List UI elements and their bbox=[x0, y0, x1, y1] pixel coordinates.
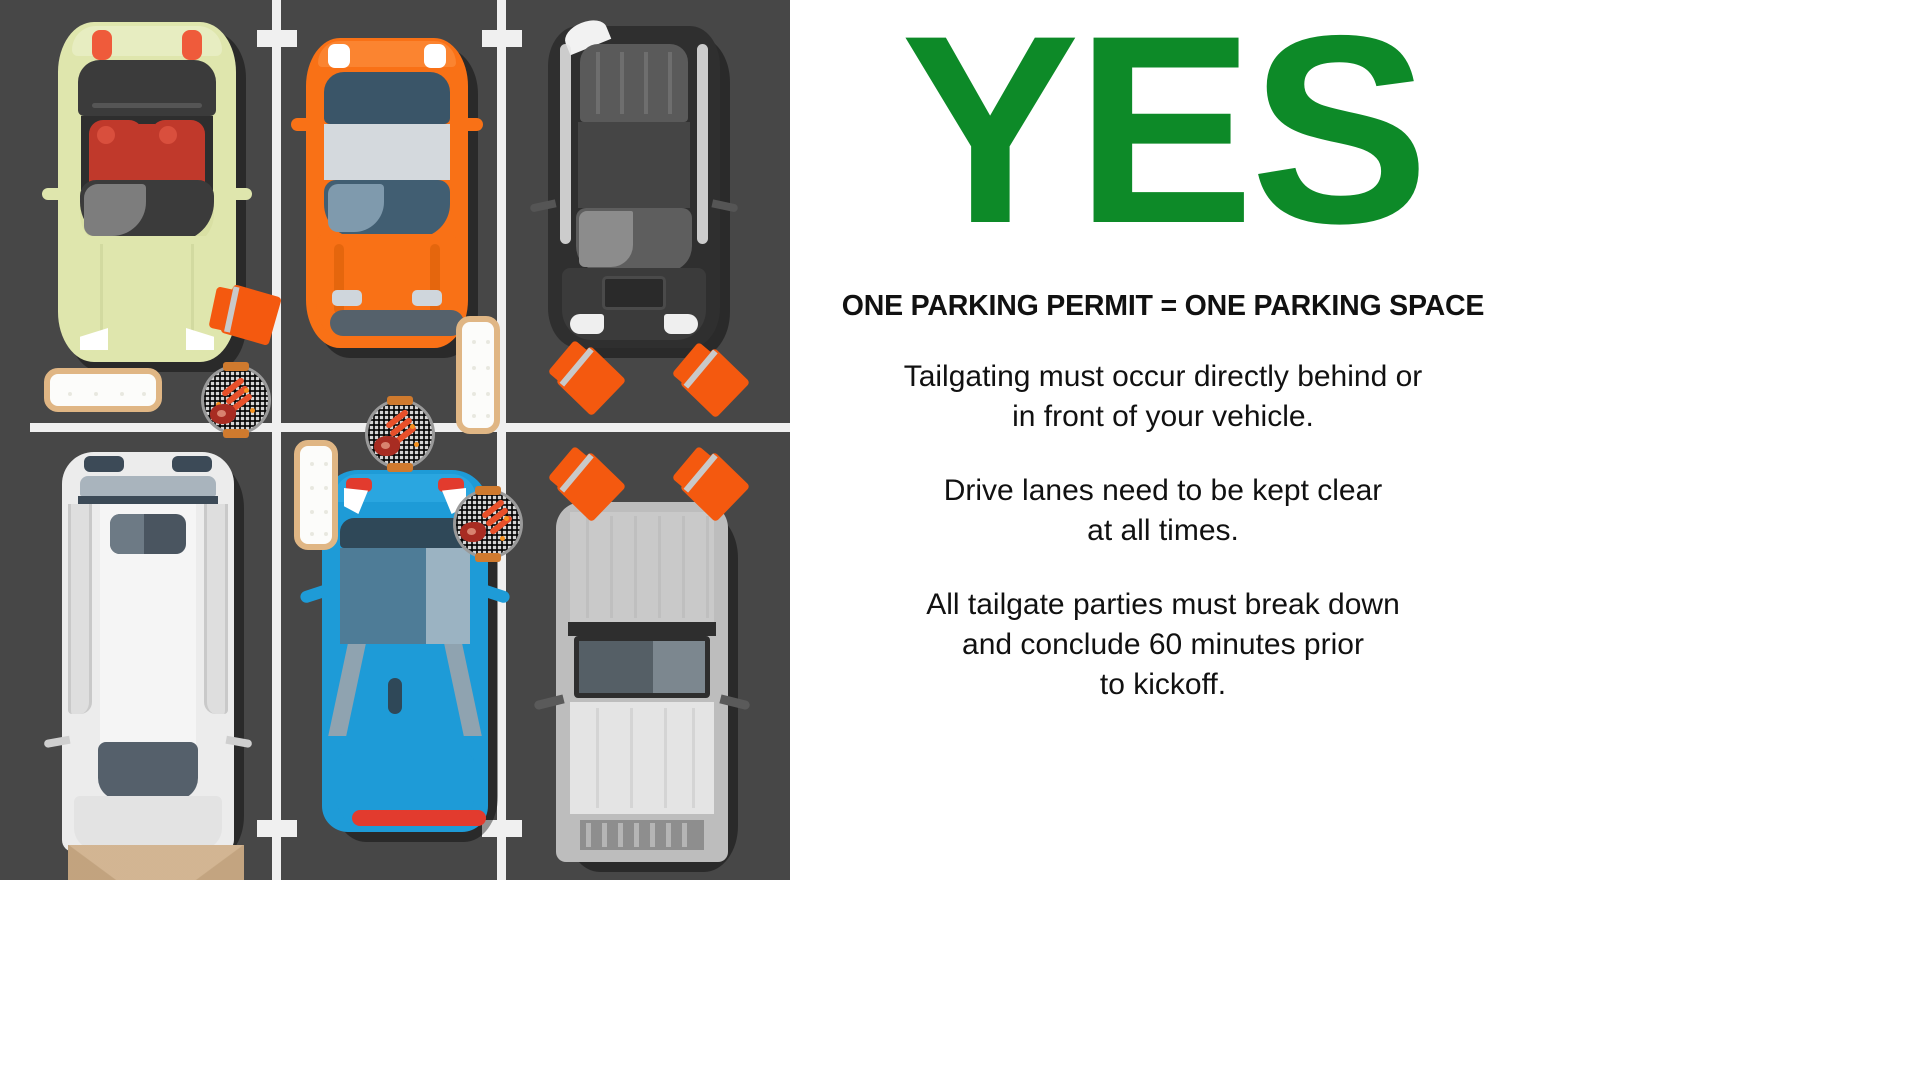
rear-window bbox=[340, 518, 470, 548]
front-end bbox=[74, 796, 222, 850]
canopy-label: 8’ x 8’ CANOPY OKAY bbox=[68, 845, 244, 880]
taillight-right bbox=[424, 44, 446, 68]
windshield bbox=[576, 208, 692, 272]
folding-chair bbox=[680, 348, 751, 419]
grille bbox=[580, 820, 704, 850]
bbq-grill bbox=[368, 402, 432, 466]
vehicle-silver-pickup-truck bbox=[556, 502, 728, 862]
verdict-heading: YES bbox=[901, 14, 1425, 244]
vehicle-dark-suv bbox=[548, 26, 720, 348]
folding-table bbox=[294, 440, 338, 550]
stall-cap-top-left bbox=[257, 30, 297, 47]
open-cabin bbox=[81, 116, 213, 190]
taillight-left bbox=[92, 30, 112, 60]
canopy-footprint: 8’ x 8’ CANOPY OKAY bbox=[68, 845, 244, 880]
folding-table bbox=[44, 368, 162, 412]
copy-panel: YES ONE PARKING PERMIT = ONE PARKING SPA… bbox=[790, 0, 1536, 880]
cab-seam bbox=[568, 622, 716, 636]
hood bbox=[570, 702, 714, 814]
headlight-left bbox=[570, 314, 604, 334]
stall-line-left-upper bbox=[272, 0, 281, 423]
windshield bbox=[98, 742, 198, 800]
roof-rail-left bbox=[560, 44, 571, 244]
rear-window bbox=[580, 44, 688, 122]
truck-bed bbox=[570, 512, 714, 622]
bbq-grill bbox=[456, 492, 520, 556]
stall-cap-top-right bbox=[482, 30, 522, 47]
taillight-right bbox=[172, 456, 212, 472]
windshield bbox=[80, 180, 214, 242]
headlight-right bbox=[664, 314, 698, 334]
bbq-grill bbox=[204, 368, 268, 432]
rear-window bbox=[324, 72, 450, 124]
taillight-right bbox=[182, 30, 202, 60]
rule-3-line-3: to kickoff. bbox=[926, 665, 1400, 705]
mirror-left bbox=[291, 118, 315, 131]
headlight-right bbox=[186, 328, 214, 350]
roof-seam bbox=[78, 496, 218, 504]
rule-paragraph-2: Drive lanes need to be kept clear at all… bbox=[944, 471, 1383, 551]
roof-rail-left bbox=[68, 504, 92, 714]
front-lip bbox=[352, 810, 486, 826]
taillight-left bbox=[328, 44, 350, 68]
rule-2-line-1: Drive lanes need to be kept clear bbox=[944, 471, 1383, 511]
mid-body bbox=[336, 644, 474, 754]
front-end bbox=[316, 234, 458, 344]
mirror-right bbox=[459, 118, 483, 131]
stall-cap-bottom-left bbox=[257, 820, 297, 837]
rear-hatch bbox=[80, 476, 216, 496]
roof bbox=[340, 548, 470, 644]
roof-rail-right bbox=[697, 44, 708, 244]
vehicle-white-suv bbox=[62, 452, 234, 852]
front-end bbox=[562, 268, 706, 340]
windshield bbox=[324, 180, 450, 238]
roof-rail-right bbox=[204, 504, 228, 714]
cab-window bbox=[574, 636, 710, 698]
headlight-left bbox=[332, 290, 362, 306]
headlight-right bbox=[412, 290, 442, 306]
roof bbox=[578, 122, 690, 208]
rule-paragraph-3: All tailgate parties must break down and… bbox=[926, 585, 1400, 705]
rule-2-line-2: at all times. bbox=[944, 511, 1383, 551]
infographic-root: 8’ x 8’ CANOPY OKAY YES ONE PARKING PERM… bbox=[0, 0, 1536, 880]
rule-3-line-1: All tailgate parties must break down bbox=[926, 585, 1400, 625]
rule-3-line-2: and conclude 60 minutes prior bbox=[926, 625, 1400, 665]
seat-left bbox=[89, 120, 143, 186]
mirror-left bbox=[42, 188, 68, 200]
front-end bbox=[70, 236, 224, 356]
page-title: ONE PARKING PERMIT = ONE PARKING SPACE bbox=[842, 290, 1484, 323]
taillight-left bbox=[84, 456, 124, 472]
seat-right bbox=[151, 120, 205, 186]
parking-lot-illustration: 8’ x 8’ CANOPY OKAY bbox=[0, 0, 790, 880]
front-bumper bbox=[330, 310, 464, 336]
rear-window bbox=[78, 60, 216, 116]
roof bbox=[324, 124, 450, 180]
grille bbox=[602, 276, 666, 310]
hood-scoop bbox=[388, 678, 402, 714]
vehicle-orange-sports-car bbox=[306, 38, 468, 348]
sunroof bbox=[110, 514, 186, 554]
rule-1-line-2: in front of your vehicle. bbox=[904, 397, 1423, 437]
headlight-left bbox=[80, 328, 108, 350]
folding-table bbox=[456, 316, 500, 434]
front-end bbox=[336, 754, 474, 830]
vehicle-yellow-green-convertible bbox=[58, 22, 236, 362]
stall-line-left-lower bbox=[272, 432, 281, 880]
rule-1-line-1: Tailgating must occur directly behind or bbox=[904, 357, 1423, 397]
rule-paragraph-1: Tailgating must occur directly behind or… bbox=[904, 357, 1423, 437]
mirror-right bbox=[226, 188, 252, 200]
